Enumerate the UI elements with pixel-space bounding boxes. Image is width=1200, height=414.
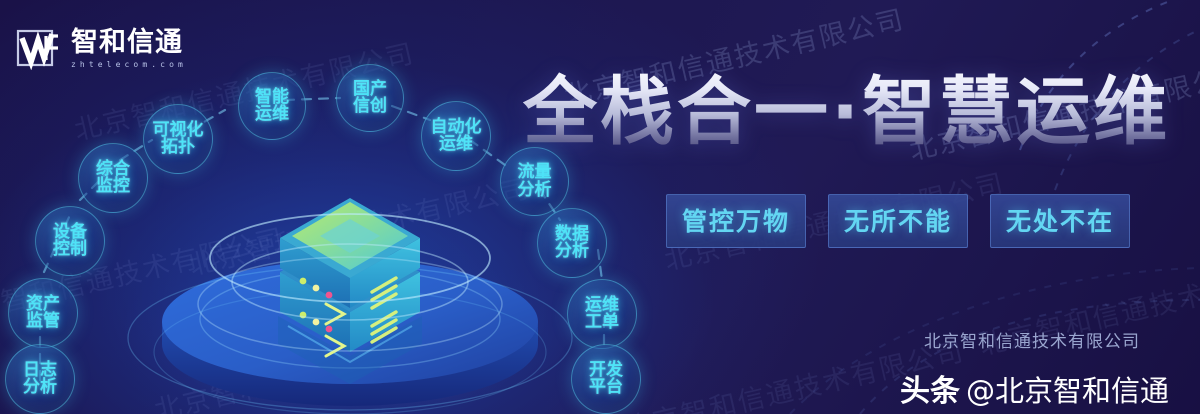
node-label-line2: 分析 [23, 379, 57, 396]
node-label-line2: 分析 [555, 243, 589, 260]
orbit-node-log-analysis[interactable]: 日志分析 [5, 344, 75, 414]
tagline-2[interactable]: 无所不能 [828, 194, 968, 248]
orbit-node-asset-supervision[interactable]: 资产监管 [8, 278, 78, 348]
node-label-line2: 运维 [255, 106, 289, 123]
node-label-line2: 信创 [353, 98, 387, 115]
node-label-line1: 流量 [518, 164, 552, 181]
node-label-line2: 拓扑 [153, 139, 204, 156]
node-label-line2: 运维 [431, 136, 482, 153]
orbit-node-intelligent-ops[interactable]: 智能运维 [238, 72, 306, 140]
node-label-line2: 监控 [96, 178, 130, 195]
orbit-node-dev-platform[interactable]: 开发平台 [571, 344, 641, 414]
account-credit: 头条 @北京智和信通 [900, 366, 1169, 410]
node-label-line2: 监管 [26, 313, 60, 330]
tagline-3[interactable]: 无处不在 [990, 194, 1130, 248]
logo-company-name: 智和信通 [71, 29, 187, 56]
orbit-node-data-analysis[interactable]: 数据分析 [537, 208, 607, 278]
orbit-node-integrated-monitoring[interactable]: 综合监控 [78, 143, 148, 213]
promo-banner: 北京智和信通技术有限公司 北京智和信通技术有限公司 北京智和信通技术有限公司 北… [0, 0, 1200, 414]
logo-domain: zhtelecom.com [71, 61, 187, 69]
orbit-node-ops-ticket[interactable]: 运维工单 [567, 279, 637, 349]
account-handle: @北京智和信通 [966, 368, 1169, 410]
tagline-1[interactable]: 管控万物 [666, 194, 806, 248]
orbit-node-domestic-innovation[interactable]: 国产信创 [336, 64, 404, 132]
orbit-node-traffic-analysis[interactable]: 流量分析 [500, 147, 569, 216]
brand-logo[interactable]: 智和信通 zhtelecom.com [16, 28, 187, 70]
company-name: 北京智和信通技术有限公司 [924, 327, 1140, 352]
page-title: 全栈合一·智慧运维 [523, 52, 1170, 159]
orbit-node-device-control[interactable]: 设备控制 [35, 206, 105, 276]
platform-name: 头条 [900, 366, 960, 410]
isometric-server-illustration [120, 176, 580, 414]
node-label-line2: 平台 [589, 379, 623, 396]
tagline-group: 管控万物 无所不能 无处不在 [666, 194, 1130, 248]
node-label-line2: 工单 [585, 314, 619, 331]
orbit-node-auto-ops[interactable]: 自动化运维 [421, 101, 491, 171]
node-label-line2: 分析 [518, 182, 552, 199]
orbit-node-visual-topology[interactable]: 可视化拓扑 [143, 104, 213, 174]
zh-monogram-icon [16, 28, 62, 70]
node-label-line2: 控制 [53, 241, 87, 258]
